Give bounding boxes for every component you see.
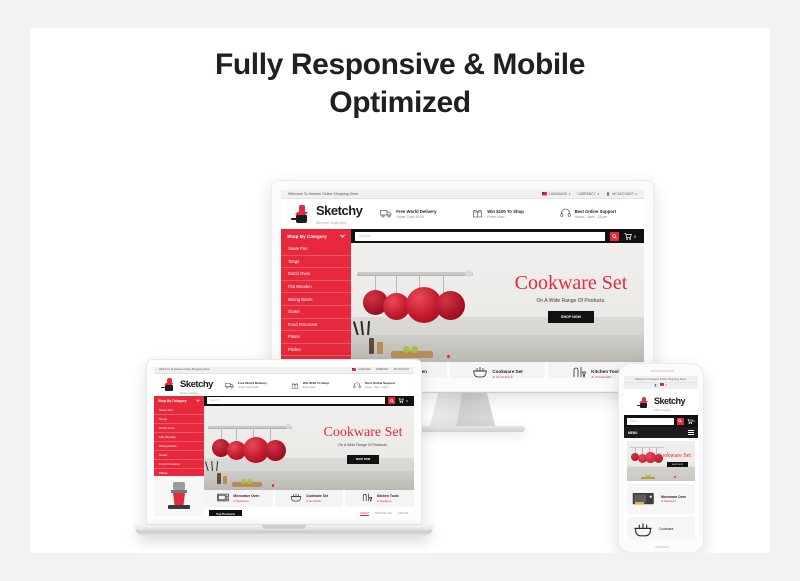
- tab-latest[interactable]: LATEST: [360, 512, 370, 516]
- preview-canvas: Fully Responsive & Mobile Optimized Welc…: [30, 28, 770, 553]
- category-item[interactable]: Plates: [281, 331, 351, 344]
- blender-logo-icon: [291, 205, 312, 223]
- topbar-currency-selector[interactable]: CURRENCY ▾: [578, 192, 600, 196]
- slider-dot-1[interactable]: [674, 476, 676, 478]
- laptop-screen: Welcome To Heaven Online Shopping Store.…: [154, 367, 414, 516]
- promo-title: Cookware Set: [492, 369, 522, 374]
- laptop-lid: Welcome To Heaven Online Shopping Store.…: [146, 359, 422, 525]
- promo-title: Cookware Set: [306, 494, 328, 498]
- category-item[interactable]: Grater: [154, 451, 204, 460]
- feature-free-delivery: Free World Delivery Order Over $100: [380, 205, 436, 223]
- cart-count: 0: [406, 399, 408, 403]
- category-item[interactable]: Tongs: [154, 415, 204, 424]
- top-products-tabs: LATEST BESTSELLER SPECIAL: [360, 512, 409, 516]
- blender-product-icon: [166, 481, 192, 511]
- phone-screen: Welcome To Heaven Online Shopping Store.…: [624, 376, 698, 539]
- blender-logo-icon: [161, 378, 176, 391]
- topbar-language-label: LANGUAGE: [358, 369, 371, 371]
- flag-icon: [352, 368, 356, 371]
- device-smartphone: Welcome To Heaven Online Shopping Store.…: [618, 363, 704, 553]
- promo-card-cookware[interactable]: Cookware Set & Nonstick: [275, 490, 344, 507]
- shop-by-category-label: Shop By Category: [287, 234, 327, 239]
- feature-online-support: Best Online Support Hours : 8am - 11pm: [353, 376, 395, 394]
- topbar-links: LANGUAGE ▾ CURRENCY ▾ 👤 MY ACCOUNT ▾: [542, 192, 637, 196]
- feature-title: Free World Delivery: [238, 381, 267, 385]
- search-input[interactable]: Search: [355, 232, 605, 241]
- store-logo[interactable]: Sketchy kitchen supplies: [291, 202, 362, 225]
- tools-icon: [571, 365, 587, 378]
- page-title: Fully Responsive & Mobile Optimized: [30, 46, 770, 123]
- store-feature-bar: Free World Delivery Order Over $100 Win …: [213, 376, 407, 394]
- cookware-icon: [472, 365, 488, 378]
- category-item[interactable]: Grater: [281, 306, 351, 319]
- hero-slider-dots: [674, 476, 681, 478]
- cart-button[interactable]: 0: [687, 419, 695, 424]
- hero-slider-dots: [272, 484, 279, 486]
- truck-icon: [225, 376, 234, 394]
- search-input[interactable]: Search: [207, 397, 385, 404]
- microwave-icon: [217, 489, 229, 507]
- truck-icon: [380, 205, 392, 223]
- slider-dot-1[interactable]: [447, 355, 450, 358]
- store-nav-row: Shop By Category Search: [281, 229, 644, 243]
- user-icon: 👤: [606, 192, 610, 196]
- tools-icon: [361, 489, 373, 507]
- feature-subtitle: Order Over $100: [238, 386, 267, 389]
- hero-subtitle: On A Wide Range Of Products.: [317, 443, 409, 447]
- store-logo-name: Sketchy: [180, 379, 213, 390]
- store-logo-tagline: kitchen supplies: [316, 222, 362, 225]
- category-item[interactable]: Flat Wooden: [281, 281, 351, 294]
- mobile-promo-cookware[interactable]: Cookware: [627, 517, 695, 539]
- topbar-language-selector[interactable]: LANGUAGE: [352, 368, 371, 371]
- mobile-menu-label: MENU: [628, 431, 637, 435]
- feature-title: Win $100 To Shop: [487, 209, 524, 214]
- category-item[interactable]: Tongs: [281, 256, 351, 269]
- promo-title: Kitchen Tools: [591, 369, 621, 374]
- promo-title: Microwave Oven: [233, 494, 259, 498]
- chevron-down-icon: ▾: [598, 192, 600, 196]
- flag-icon: [542, 192, 547, 196]
- store-logo-tagline: kitchen supplies: [654, 410, 685, 412]
- phone-home-indicator: [655, 546, 669, 548]
- page-root: Fully Responsive & Mobile Optimized Welc…: [0, 0, 800, 581]
- category-item[interactable]: Saute Pan: [154, 406, 204, 415]
- hamburger-icon[interactable]: [688, 430, 694, 435]
- feature-subtitle: Order Over $100: [396, 215, 436, 219]
- store-logo-name: Sketchy: [316, 203, 362, 218]
- store-brand-row: Sketchy kitchen supplies Free World Deli: [281, 199, 644, 229]
- hero-banner: Cookware Set On A Wide Range Of Products…: [204, 406, 414, 490]
- store-logo[interactable]: Sketchy kitchen supplies: [161, 374, 213, 396]
- store-search-bar: Search 0: [351, 229, 644, 243]
- category-item[interactable]: Saute Pan: [281, 243, 351, 256]
- mobile-brand-row: Sketchy kitchen supplies: [624, 389, 698, 415]
- laptop-trackpad-notch: [262, 525, 306, 529]
- hero-title: Cookware Set: [317, 426, 409, 440]
- promo-subtitle: & Gadgets: [591, 375, 621, 379]
- mobile-hero-banner: Cookware Set SHOP NOW: [627, 441, 695, 481]
- category-list: Saute Pan Tongs Dutch Oven Flat Wooden M…: [281, 243, 351, 378]
- cookware-icon: [290, 489, 302, 507]
- promo-subtitle: & Nonstick: [492, 375, 522, 379]
- monitor-screen: Welcome To Heaven Online Shopping Store.…: [281, 190, 644, 378]
- hero-cta-button[interactable]: SHOP NOW: [548, 311, 594, 323]
- headline-line-2: Optimized: [30, 84, 770, 122]
- hero-title: Cookware Set: [657, 453, 691, 459]
- hero-subtitle: On A Wide Range Of Products.: [506, 298, 636, 304]
- store-logo-name: Sketchy: [654, 396, 685, 406]
- promo-title: Kitchen Tools: [377, 494, 399, 498]
- slider-dot-2[interactable]: [453, 355, 456, 358]
- search-icon[interactable]: [610, 232, 619, 241]
- feature-win-to-shop: Win $100 To Shop Enter Now: [472, 205, 524, 223]
- topbar-account-link[interactable]: MY ACCOUNT: [394, 369, 409, 371]
- slider-dot-2[interactable]: [277, 484, 279, 486]
- promo-card-cookware[interactable]: Cookware Set & Nonstick: [450, 362, 546, 378]
- top-products-label: Top Products: [209, 510, 242, 517]
- promo-title: Cookware: [659, 527, 673, 531]
- monitor-stand-neck: [429, 392, 496, 429]
- mobile-menu-bar[interactable]: MENU: [624, 427, 698, 438]
- category-item[interactable]: Dutch Oven: [154, 424, 204, 433]
- promo-card-tools[interactable]: Kitchen Tools & Gadgets: [345, 490, 414, 507]
- category-item[interactable]: Flat Wooden: [154, 433, 204, 442]
- topbar-welcome-text: Welcome To Heaven Online Shopping Store.: [159, 368, 210, 371]
- promo-subtitle: & Gadgets: [377, 499, 399, 503]
- hero-cta-button[interactable]: SHOP NOW: [667, 462, 688, 467]
- chevron-down-icon: [340, 234, 345, 239]
- cart-button[interactable]: 0: [624, 233, 640, 240]
- hero-title: Cookware Set: [506, 273, 636, 293]
- hero-slider-dots: [447, 355, 456, 358]
- category-item[interactable]: Mixing Bowls: [154, 442, 204, 451]
- user-icon[interactable]: 👤: [654, 384, 658, 387]
- category-item[interactable]: Pitcher: [281, 344, 351, 357]
- mobile-search-bar: Search 0: [624, 415, 698, 427]
- microwave-icon: [631, 490, 657, 508]
- slider-dot-1[interactable]: [272, 484, 274, 486]
- cookware-icon: [632, 521, 654, 537]
- store-nav-row: Shop By Category Search: [154, 396, 414, 406]
- feature-online-support: Best Online Support Hours : 8am - 11pm: [560, 205, 617, 223]
- product-thumbnail-blender[interactable]: [154, 476, 204, 516]
- tab-bestseller[interactable]: BESTSELLER: [375, 512, 392, 516]
- category-item[interactable]: Food Processor: [281, 319, 351, 332]
- promo-row: Microwave Oven & Stainless Co: [204, 490, 414, 507]
- phone-speaker: [650, 370, 674, 372]
- hero-cta-button[interactable]: SHOP NOW: [347, 455, 379, 464]
- tab-special[interactable]: SPECIAL: [398, 512, 409, 516]
- store-topbar: Welcome To Heaven Online Shopping Store.…: [281, 190, 644, 199]
- topbar-language-selector[interactable]: LANGUAGE ▾: [542, 192, 570, 196]
- topbar-account-link[interactable]: 👤 MY ACCOUNT ▾: [606, 192, 637, 196]
- currency-icon[interactable]: $: [665, 384, 667, 387]
- store-feature-bar: Free World Delivery Order Over $100 Win …: [362, 205, 634, 223]
- chevron-down-icon: ▾: [569, 192, 571, 196]
- topbar-language-label: LANGUAGE: [549, 192, 567, 196]
- store-brand-row: Sketchy kitchen supplies Free World Deli: [154, 374, 414, 396]
- chevron-down-icon: [196, 399, 200, 403]
- gift-icon: [291, 376, 299, 394]
- topbar-currency-label: CURRENCY: [578, 192, 596, 196]
- store-search-bar: Search 0: [204, 396, 414, 406]
- blender-logo-icon: [637, 397, 650, 408]
- feature-free-delivery: Free World Delivery Order Over $100: [225, 376, 267, 394]
- promo-subtitle: & Nonstick: [306, 499, 328, 503]
- shop-by-category-label: Shop By Category: [158, 399, 187, 403]
- category-item[interactable]: Food Processor: [154, 460, 204, 469]
- promo-card-microwave[interactable]: Microwave Oven & Stainless: [204, 490, 273, 507]
- top-products-row: Top Products LATEST BESTSELLER SPECIAL: [204, 507, 414, 517]
- topbar-currency-selector[interactable]: CURRENCY: [376, 369, 389, 371]
- feature-subtitle: Enter Now: [303, 386, 329, 389]
- feature-subtitle: Hours : 8am - 11pm: [575, 215, 617, 219]
- shop-by-category-button[interactable]: Shop By Category: [281, 229, 351, 243]
- feature-win-to-shop: Win $100 To Shop Enter Now: [291, 376, 329, 394]
- category-item[interactable]: Dutch Oven: [281, 268, 351, 281]
- search-input[interactable]: Search: [627, 418, 674, 425]
- headset-icon: [353, 376, 361, 394]
- topbar-account-label: MY ACCOUNT: [612, 192, 633, 196]
- mobile-promo-microwave[interactable]: Microwave Oven & Stainless: [627, 484, 695, 514]
- shop-by-category-button[interactable]: Shop By Category: [154, 396, 204, 406]
- feature-subtitle: Enter Now: [487, 215, 524, 219]
- promo-subtitle: & Stainless: [661, 499, 686, 503]
- feature-title: Free World Delivery: [396, 209, 436, 214]
- mobile-topbar-welcome: Welcome To Heaven Online Shopping Store.: [624, 376, 698, 383]
- headset-icon: [560, 205, 571, 223]
- chevron-down-icon: ▾: [635, 192, 637, 196]
- cart-button[interactable]: 0: [398, 398, 411, 403]
- feature-title: Best Online Support: [365, 381, 395, 385]
- headline-line-1: Fully Responsive & Mobile: [30, 46, 770, 84]
- topbar-welcome-text: Welcome To Heaven Online Shopping Store.: [288, 192, 359, 196]
- store-logo[interactable]: Sketchy kitchen supplies: [637, 391, 685, 412]
- cart-count: 0: [634, 234, 636, 239]
- hero-banner: Cookware Set On A Wide Range Of Products…: [351, 243, 644, 362]
- device-laptop: Welcome To Heaven Online Shopping Store.…: [135, 359, 433, 549]
- search-icon[interactable]: [388, 397, 395, 404]
- feature-title: Best Online Support: [575, 209, 617, 214]
- feature-subtitle: Hours : 8am - 11pm: [365, 386, 395, 389]
- search-icon[interactable]: [677, 418, 684, 425]
- category-item[interactable]: Mixing Bowls: [281, 293, 351, 306]
- phone-frame: Welcome To Heaven Online Shopping Store.…: [618, 363, 704, 553]
- feature-title: Win $100 To Shop: [303, 381, 329, 385]
- cart-count: 0: [694, 420, 695, 423]
- slider-dot-2[interactable]: [679, 476, 681, 478]
- promo-subtitle: & Stainless: [233, 499, 259, 503]
- topbar-links: LANGUAGE CURRENCY MY ACCOUNT: [352, 368, 409, 371]
- gift-icon: [472, 205, 483, 223]
